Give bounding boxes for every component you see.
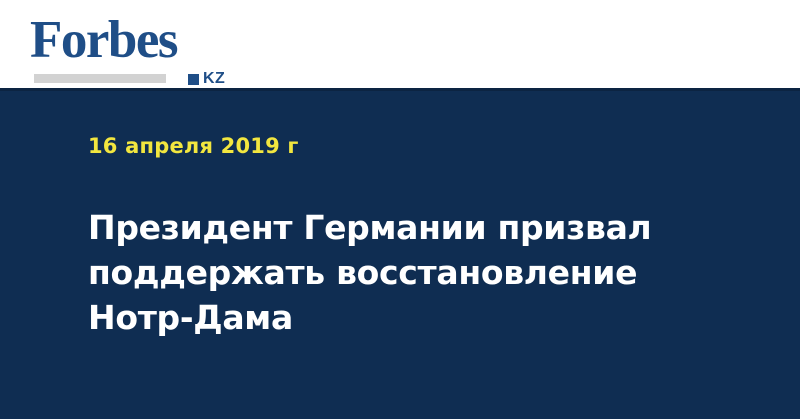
article-date: 16 апреля 2019 г	[88, 134, 299, 158]
headline-line-2: поддержать восстановление	[88, 250, 688, 295]
forbes-kz-logo[interactable]: Forbes KZ	[30, 12, 230, 78]
article-headline[interactable]: Президент Германии призвал поддержать во…	[88, 205, 688, 340]
logo-kz-label: KZ	[203, 71, 225, 87]
article-banner: 16 апреля 2019 г Президент Германии приз…	[0, 88, 800, 419]
navy-square-icon	[188, 74, 199, 85]
headline-line-3: Нотр-Дама	[88, 295, 688, 340]
logo-kz-mark: KZ	[188, 71, 225, 87]
site-header: Forbes KZ	[0, 0, 800, 88]
article-card: Forbes KZ 16 апреля 2019 г Президент Гер…	[0, 0, 800, 419]
logo-wordmark: Forbes	[30, 12, 177, 68]
logo-rule	[34, 74, 166, 83]
headline-line-1: Президент Германии призвал	[88, 205, 688, 250]
